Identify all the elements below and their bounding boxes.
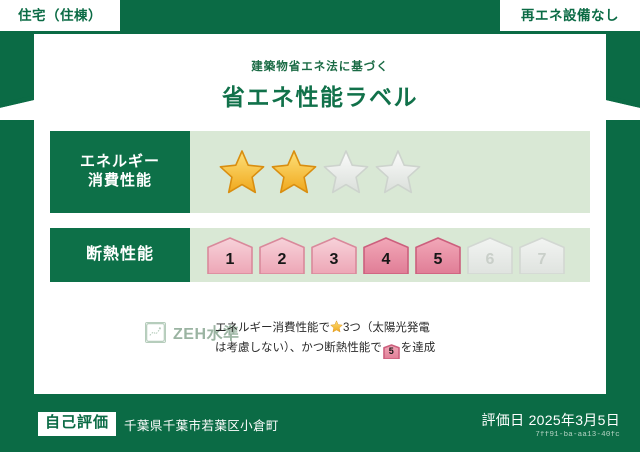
tab-renewable-energy: 再エネ設備なし: [500, 0, 640, 31]
energy-performance-label: エネルギー 消費性能: [50, 131, 190, 213]
property-address: 千葉県千葉市若葉区小倉町: [124, 415, 279, 434]
evaluation-date: 評価日 2025年3月5日: [481, 410, 620, 430]
grade-badge-4: 4: [362, 236, 410, 274]
title-block: 建築物省エネ法に基づく 省エネ性能ラベル: [0, 58, 640, 112]
insulation-performance-label: 断熱性能: [50, 228, 190, 282]
energy-performance-value: [190, 131, 590, 213]
star-2-filled-icon: [270, 148, 318, 196]
zeh-desc-line2-a: は考慮しない）、かつ断熱性能で: [215, 342, 382, 354]
grade-badge-1: 1: [206, 236, 254, 274]
energy-performance-row: エネルギー 消費性能: [50, 131, 590, 213]
tab-building-type-label: 住宅（住棟）: [18, 9, 102, 23]
zeh-icon: [145, 322, 166, 343]
energy-performance-label-line2: 消費性能: [88, 172, 152, 191]
evaluation-id: 7ff91-ba-aa13-40fc: [481, 431, 620, 439]
zeh-standard-block: ZEH水準 エネルギー消費性能で3つ（太陽光発電 は考慮しない）、かつ断熱性能で…: [50, 312, 590, 370]
title-main: 省エネ性能ラベル: [0, 78, 640, 112]
evaluation-type-badge: 自己評価: [38, 412, 116, 436]
star-4-empty-icon: [374, 148, 422, 196]
insulation-performance-value: 1234567: [190, 228, 590, 282]
zeh-standard-mark: ZEH水準: [50, 312, 215, 344]
evaluation-date-label: 評価日: [481, 412, 524, 428]
footer-right: 評価日 2025年3月5日 7ff91-ba-aa13-40fc: [481, 410, 620, 439]
grade-badge-5: 5: [414, 236, 462, 274]
insulation-performance-row: 断熱性能 1234567: [50, 228, 590, 282]
title-subtitle: 建築物省エネ法に基づく: [0, 58, 640, 74]
zeh-desc-line1-a: エネルギー消費性能で: [215, 322, 330, 334]
star-3-empty-icon: [322, 148, 370, 196]
inline-star-icon: [330, 320, 343, 333]
tab-building-type: 住宅（住棟）: [0, 0, 120, 31]
grade-badge-6: 6: [466, 236, 514, 274]
zeh-desc-line2-b: を達成: [401, 342, 436, 354]
zeh-description: エネルギー消費性能で3つ（太陽光発電 は考慮しない）、かつ断熱性能で5を達成: [215, 312, 590, 358]
grade-badge-list: 1234567: [206, 236, 566, 274]
tab-renewable-energy-label: 再エネ設備なし: [521, 9, 619, 23]
insulation-performance-label-text: 断熱性能: [86, 245, 154, 265]
footer-bar: 自己評価 千葉県千葉市若葉区小倉町 評価日 2025年3月5日 7ff91-ba…: [0, 396, 640, 452]
evaluation-date-value: 2025年3月5日: [529, 412, 620, 428]
star-rating: [218, 148, 422, 196]
energy-label-card: 住宅（住棟） 再エネ設備なし 建築物省エネ法に基づく 省エネ性能ラベル エネルギ…: [0, 0, 640, 452]
grade-badge-3: 3: [310, 236, 358, 274]
inline-grade-badge: 5: [382, 343, 401, 358]
zeh-desc-line1-b: 3つ（太陽光発電: [343, 322, 430, 334]
energy-performance-label-line1: エネルギー: [80, 153, 160, 172]
grade-badge-2: 2: [258, 236, 306, 274]
grade-badge-7: 7: [518, 236, 566, 274]
star-1-filled-icon: [218, 148, 266, 196]
